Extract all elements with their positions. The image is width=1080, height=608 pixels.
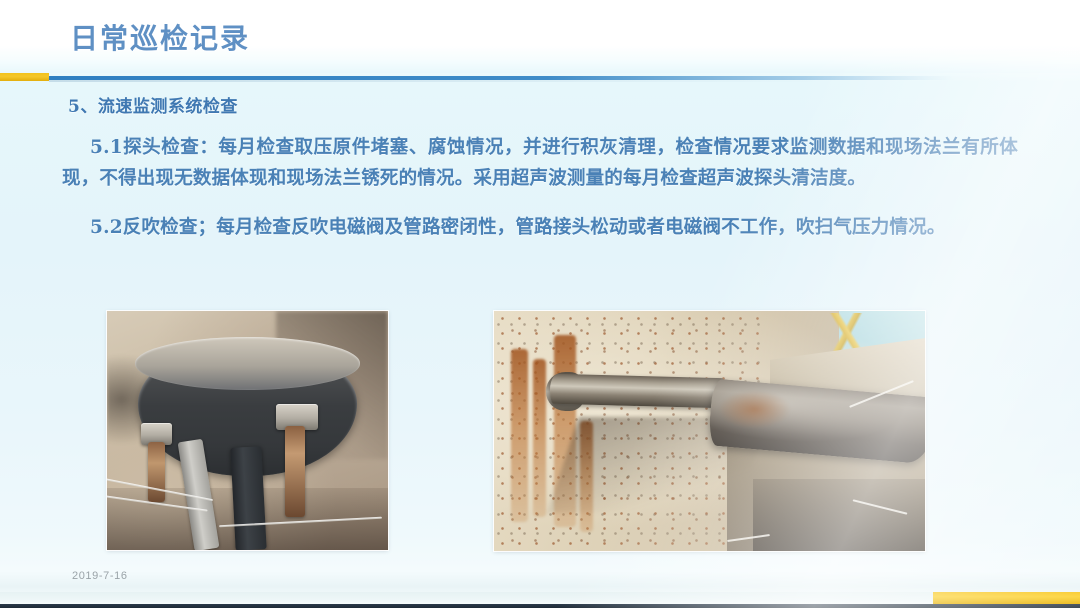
body-copy: 5、流速监测系统检查 5.1探头检查：每月检查取压原件堵塞、腐蚀情况，并进行积灰… (62, 92, 1018, 243)
flange-blind-plate-photo (107, 311, 388, 550)
photo-1-content (107, 311, 388, 550)
divider-gold-stub (0, 73, 49, 81)
rust-streak-2 (533, 359, 546, 517)
title-divider (0, 73, 1080, 81)
dark-hose-pipe (231, 446, 267, 550)
paragraph-5-2: 5.2反吹检查；每月检查反吹电磁阀及管路密闭性，管路接头松动或者电磁阀不工作，吹… (62, 212, 1018, 243)
pipe-rust-patch (718, 390, 791, 428)
rust-streak-1 (511, 349, 528, 522)
page-title: 日常巡检记录 (70, 17, 250, 57)
photo-2-content (494, 311, 925, 551)
footer-band (0, 592, 1080, 604)
flange-bolt-right (285, 426, 305, 517)
flange-bolt-left (148, 442, 165, 502)
footer-date: 2019-7-16 (72, 570, 128, 582)
footer-gold-accent (933, 592, 1080, 604)
probe-pipe-rust-photo (494, 311, 925, 551)
probe-pipe-shaft (550, 373, 727, 408)
slide: 日常巡检记录 5、流速监测系统检查 5.1探头检查：每月检查取压原件堵塞、腐蚀情… (0, 0, 1080, 608)
flange-rim (135, 337, 360, 390)
section-heading: 5、流速监测系统检查 (68, 92, 1018, 117)
paragraph-5-1: 5.1探头检查：每月检查取压原件堵塞、腐蚀情况，并进行积灰清理，检查情况要求监测… (62, 132, 1018, 194)
footer-rule (0, 604, 1080, 608)
floor-shadow (753, 479, 925, 551)
divider-blue-shadow (49, 80, 829, 82)
